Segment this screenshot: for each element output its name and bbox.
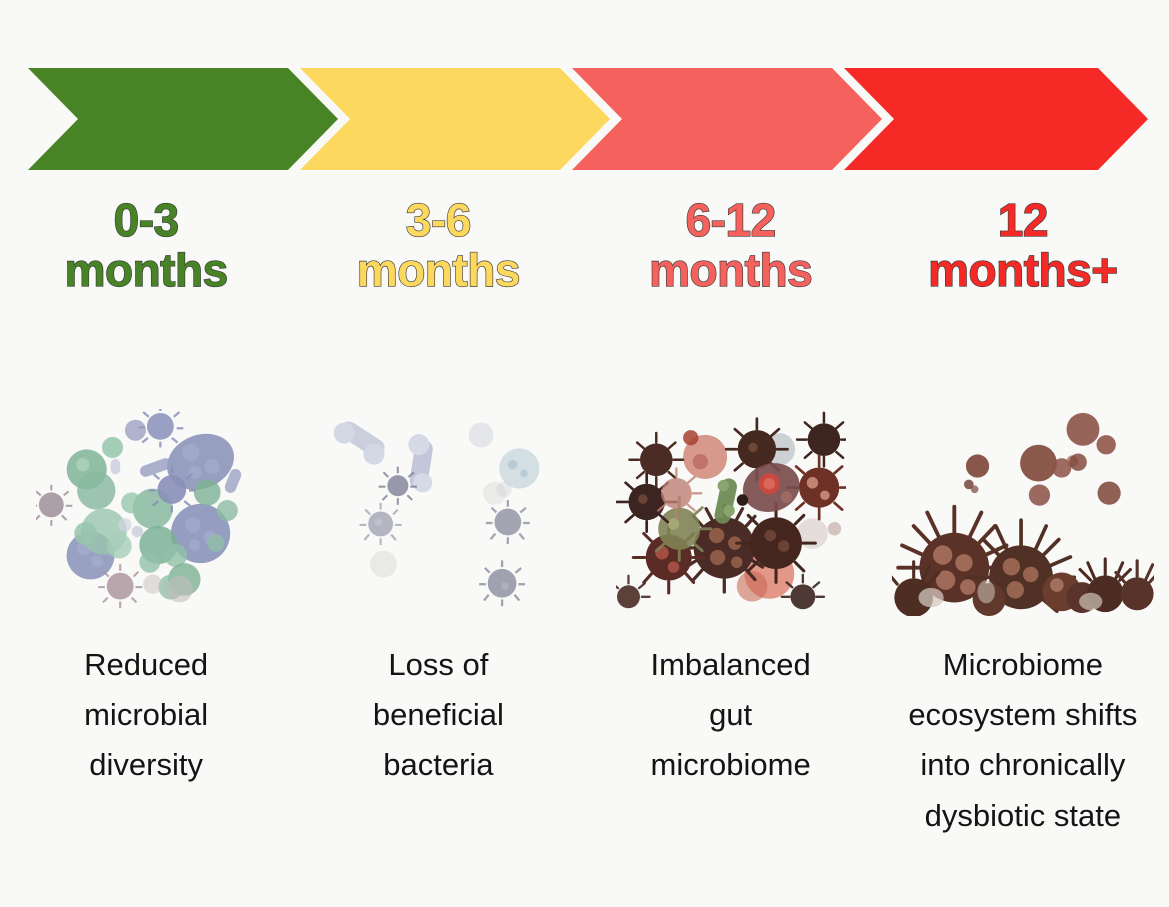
arrow-stage-6-12-months[interactable] xyxy=(572,68,882,170)
period-line-2: months+ xyxy=(877,246,1169,296)
period-line-2: months xyxy=(0,246,292,296)
stage-6-12-months: 6-12 months xyxy=(585,196,877,896)
stage-caption: Loss of beneficial bacteria xyxy=(292,640,584,791)
stage-columns: 0-3 months xyxy=(0,196,1169,896)
diverse-microbiome-cluster-illustration xyxy=(0,394,292,629)
sparse-faded-microbes-illustration xyxy=(292,394,584,629)
period-line-2: months xyxy=(292,246,584,296)
period-line-1: 3-6 xyxy=(292,196,584,246)
green-rod-bacterium xyxy=(713,476,738,524)
spiky-pathogen-overgrowth-illustration xyxy=(585,394,877,629)
stage-3-6-months: 3-6 months xyxy=(292,196,584,896)
spiky-virus xyxy=(36,484,72,525)
period-line-1: 12 xyxy=(877,196,1169,246)
arrow-stage-0-3-months[interactable] xyxy=(28,68,338,170)
stage-0-3-months: 0-3 months xyxy=(0,196,292,896)
spiky-pathogen xyxy=(797,412,846,466)
spiky-virus xyxy=(360,502,402,544)
stage-caption: Microbiome ecosystem shifts into chronic… xyxy=(877,640,1169,841)
spiky-pathogen xyxy=(736,503,815,582)
period-label-3-6-months: 3-6 months xyxy=(292,196,584,295)
period-label-12-months-plus: 12 months+ xyxy=(877,196,1169,295)
biofilm-mass xyxy=(892,506,1154,615)
arrow-stage-12-months-plus[interactable] xyxy=(844,68,1148,170)
stage-caption: Imbalanced gut microbiome xyxy=(585,640,877,791)
arrow-stage-3-6-months[interactable] xyxy=(300,68,610,170)
dysbiotic-biofilm-mass-illustration xyxy=(877,394,1169,629)
period-label-0-3-months: 0-3 months xyxy=(0,196,292,295)
timeline-arrow-band xyxy=(0,68,1169,170)
stage-caption: Reduced microbial diversity xyxy=(0,640,292,791)
stage-12-months-plus: 12 months+ xyxy=(877,196,1169,896)
period-line-1: 6-12 xyxy=(585,196,877,246)
period-line-1: 0-3 xyxy=(0,196,292,246)
spiky-virus xyxy=(480,560,526,606)
spiky-virus xyxy=(486,500,530,544)
period-label-6-12-months: 6-12 months xyxy=(585,196,877,295)
period-line-2: months xyxy=(585,246,877,296)
